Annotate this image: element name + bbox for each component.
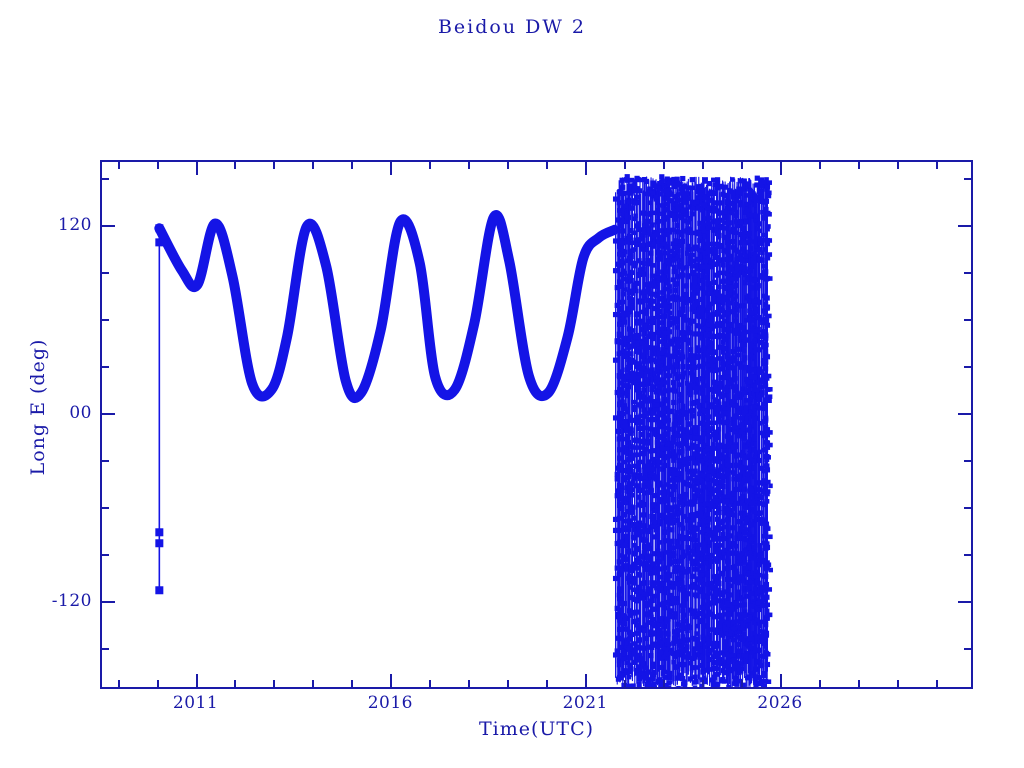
data-marker: [750, 650, 755, 655]
data-marker: [697, 412, 702, 417]
data-marker: [666, 527, 671, 532]
data-marker: [655, 533, 660, 538]
data-marker: [752, 256, 757, 261]
data-marker: [767, 194, 772, 199]
data-marker: [713, 182, 718, 187]
data-marker: [657, 303, 662, 308]
data-marker: [685, 283, 690, 288]
data-marker: [677, 337, 682, 342]
data-marker: [760, 321, 765, 326]
data-marker: [766, 652, 771, 657]
data-marker: [761, 684, 766, 687]
data-marker: [668, 311, 673, 316]
data-marker: [631, 453, 636, 458]
data-marker: [738, 465, 743, 470]
data-marker: [763, 311, 768, 316]
data-marker: [642, 550, 647, 555]
data-marker: [753, 375, 758, 380]
data-marker: [625, 535, 630, 540]
data-marker: [737, 654, 742, 659]
data-marker: [645, 544, 650, 549]
x-tick-minor: [507, 680, 509, 687]
data-marker: [647, 305, 652, 310]
x-axis-title: Time(UTC): [100, 718, 973, 740]
y-tick-label: -120: [4, 591, 92, 611]
y-tick-major-right: [958, 601, 971, 603]
data-marker: [757, 369, 762, 374]
data-marker: [699, 436, 704, 441]
data-marker: [745, 277, 750, 282]
data-marker: [680, 603, 685, 608]
data-marker: [627, 525, 632, 530]
data-marker: [628, 669, 633, 674]
data-marker: [744, 318, 749, 323]
data-marker: [735, 572, 740, 577]
data-marker: [672, 265, 677, 270]
data-marker: [675, 325, 680, 330]
data-marker: [720, 367, 725, 372]
data-marker: [689, 421, 694, 426]
data-marker: [667, 553, 672, 558]
data-marker: [709, 291, 714, 296]
data-marker: [744, 642, 749, 647]
data-marker: [683, 184, 688, 189]
data-marker: [663, 267, 668, 272]
data-marker: [637, 488, 642, 493]
data-marker: [680, 191, 685, 196]
data-marker: [631, 270, 636, 275]
data-marker: [735, 391, 740, 396]
data-marker: [688, 331, 693, 336]
data-marker: [629, 359, 634, 364]
data-marker: [702, 195, 707, 200]
data-marker: [743, 365, 748, 370]
data-marker: [722, 448, 727, 453]
data-marker: [674, 477, 679, 482]
data-marker: [753, 198, 758, 203]
data-marker: [736, 576, 741, 581]
data-marker: [708, 458, 713, 463]
data-marker: [694, 299, 699, 304]
data-marker: [654, 233, 659, 238]
data-marker: [718, 356, 723, 361]
data-marker: [641, 228, 646, 233]
data-marker: [620, 381, 625, 386]
data-marker: [757, 334, 762, 339]
data-marker: [678, 263, 683, 268]
data-marker: [768, 276, 773, 281]
data-marker: [648, 331, 653, 336]
data-marker: [697, 354, 702, 359]
data-marker: [656, 314, 661, 319]
data-marker: [660, 445, 665, 450]
x-tick-minor: [546, 680, 548, 687]
data-marker: [729, 301, 734, 306]
data-marker: [717, 427, 722, 432]
data-marker: [637, 426, 642, 431]
data-marker: [744, 254, 749, 259]
data-marker: [653, 211, 658, 216]
data-marker: [758, 543, 763, 548]
data-marker: [635, 599, 640, 604]
data-marker: [719, 604, 724, 609]
data-marker: [753, 194, 758, 199]
data-marker: [682, 196, 687, 201]
data-marker: [765, 662, 770, 667]
data-marker: [697, 587, 702, 592]
data-marker: [762, 358, 767, 363]
data-marker: [668, 254, 673, 259]
data-marker: [659, 339, 664, 344]
data-marker: [648, 399, 653, 404]
data-marker: [640, 656, 645, 661]
data-marker: [692, 680, 697, 685]
data-marker: [663, 496, 668, 501]
data-marker: [620, 306, 625, 311]
data-marker: [617, 516, 622, 521]
data-marker: [677, 582, 682, 587]
data-marker: [649, 614, 654, 619]
data-marker: [729, 646, 734, 651]
data-marker: [648, 325, 653, 330]
data-marker: [627, 457, 632, 462]
data-marker: [744, 405, 749, 410]
data-marker: [687, 530, 692, 535]
data-marker: [654, 379, 659, 384]
data-marker: [732, 472, 737, 477]
data-marker: [732, 425, 737, 430]
data-marker: [748, 193, 753, 198]
data-marker: [648, 200, 653, 205]
data-marker: [637, 395, 642, 400]
data-marker: [621, 269, 626, 274]
data-marker: [703, 362, 708, 367]
y-tick-minor-right: [964, 507, 971, 509]
data-marker: [629, 178, 634, 183]
data-marker: [672, 636, 677, 641]
data-marker: [692, 487, 697, 492]
data-marker: [618, 259, 623, 264]
data-marker: [710, 627, 715, 632]
data-marker: [691, 305, 696, 310]
y-tick-minor: [102, 178, 109, 180]
data-marker: [651, 584, 656, 589]
data-marker: [624, 191, 629, 196]
data-marker: [666, 294, 671, 299]
data-marker: [721, 519, 726, 524]
data-marker: [722, 679, 727, 684]
data-marker: [760, 593, 765, 598]
data-marker: [751, 355, 756, 360]
data-marker: [740, 450, 745, 455]
data-marker: [728, 360, 733, 365]
data-marker: [634, 312, 639, 317]
data-marker: [764, 343, 769, 348]
data-marker: [744, 420, 749, 425]
data-marker: [623, 204, 628, 209]
data-marker: [741, 259, 746, 264]
data-marker: [718, 623, 723, 628]
data-marker: [645, 222, 650, 227]
data-marker: [704, 561, 709, 566]
data-marker: [753, 383, 758, 388]
data-marker: [670, 596, 675, 601]
data-marker: [733, 359, 738, 364]
data-marker: [752, 437, 757, 442]
data-marker: [705, 570, 710, 575]
data-marker: [672, 456, 677, 461]
data-marker: [678, 198, 683, 203]
data-marker: [674, 601, 679, 606]
data-marker: [627, 474, 632, 479]
data-marker: [619, 435, 624, 440]
data-marker: [618, 586, 623, 591]
x-tick-minor: [858, 680, 860, 687]
data-marker: [637, 527, 642, 532]
data-marker: [679, 545, 684, 550]
data-marker: [762, 478, 767, 483]
data-marker: [692, 636, 697, 641]
data-marker: [735, 190, 740, 195]
data-marker: [702, 519, 707, 524]
data-marker: [685, 381, 690, 386]
data-marker: [734, 198, 739, 203]
data-marker: [743, 566, 748, 571]
data-marker: [635, 200, 640, 205]
data-marker: [644, 447, 649, 452]
data-marker: [753, 574, 758, 579]
data-marker: [629, 444, 634, 449]
data-marker: [636, 460, 641, 465]
data-marker: [629, 254, 634, 259]
data-marker: [763, 567, 768, 572]
data-marker: [617, 375, 622, 380]
data-marker: [673, 611, 678, 616]
data-marker: [625, 627, 630, 632]
data-marker: [764, 296, 769, 301]
data-marker: [662, 492, 667, 497]
data-marker: [665, 631, 670, 636]
data-marker: [626, 375, 631, 380]
data-marker: [687, 435, 692, 440]
data-marker: [737, 406, 742, 411]
data-marker: [622, 657, 627, 662]
data-marker: [642, 308, 647, 313]
data-marker: [677, 415, 682, 420]
data-marker: [731, 626, 736, 631]
data-marker: [627, 675, 632, 680]
data-marker: [723, 338, 728, 343]
data-marker: [624, 437, 629, 442]
data-marker: [712, 247, 717, 252]
data-marker: [759, 639, 764, 644]
data-marker: [764, 586, 769, 591]
data-marker: [709, 265, 714, 270]
data-marker: [749, 487, 754, 492]
data-marker: [682, 498, 687, 503]
data-marker: [697, 488, 702, 493]
data-marker: [744, 654, 749, 659]
data-marker: [714, 434, 719, 439]
data-marker: [688, 661, 693, 666]
data-marker: [727, 533, 732, 538]
data-marker: [692, 276, 697, 281]
data-marker: [672, 181, 677, 186]
data-marker: [726, 468, 731, 473]
data-marker: [679, 244, 684, 249]
data-marker: [637, 227, 642, 232]
data-marker: [709, 492, 714, 497]
data-marker: [684, 569, 689, 574]
x-tick-minor: [118, 680, 120, 687]
data-marker: [757, 493, 762, 498]
data-marker: [702, 383, 707, 388]
data-marker: [620, 389, 625, 394]
data-marker: [666, 454, 671, 459]
data-marker: [711, 364, 716, 369]
data-marker: [681, 460, 686, 465]
data-marker: [651, 337, 656, 342]
data-marker: [708, 216, 713, 221]
data-marker: [762, 331, 767, 336]
chart-title: Beidou DW 2: [0, 16, 1024, 38]
data-marker: [706, 256, 711, 261]
data-marker: [619, 223, 624, 228]
data-marker: [753, 333, 758, 338]
data-marker: [766, 387, 771, 392]
data-marker: [633, 543, 638, 548]
data-marker: [658, 192, 663, 197]
data-marker: [677, 230, 682, 235]
data-marker: [752, 203, 757, 208]
data-marker: [664, 652, 669, 657]
data-marker: [620, 568, 625, 573]
chart-root: Beidou DW 2 2011201620212026-12000120 Ti…: [0, 0, 1024, 768]
data-marker: [703, 397, 708, 402]
y-tick-minor-right: [964, 319, 971, 321]
data-marker: [716, 407, 721, 412]
data-marker: [663, 437, 668, 442]
data-marker: [681, 302, 686, 307]
data-marker: [753, 239, 758, 244]
data-marker: [694, 631, 699, 636]
data-marker: [693, 280, 698, 285]
data-marker: [621, 312, 626, 317]
data-marker: [678, 534, 683, 539]
data-marker: [756, 563, 761, 568]
data-marker: [740, 481, 745, 486]
data-marker: [686, 244, 691, 249]
data-marker: [730, 512, 735, 517]
data-marker: [735, 681, 740, 686]
data-marker: [617, 493, 622, 498]
data-marker: [754, 617, 759, 622]
data-marker: [637, 572, 642, 577]
data-marker: [688, 321, 693, 326]
data-marker: [655, 440, 660, 445]
data-marker: [767, 679, 772, 684]
data-marker: [673, 565, 678, 570]
data-marker: [621, 478, 626, 483]
x-tick-minor-top: [897, 162, 899, 169]
data-marker: [659, 617, 664, 622]
data-marker: [693, 685, 698, 687]
data-marker: [632, 343, 637, 348]
data-marker: [697, 231, 702, 236]
data-marker: [642, 628, 647, 633]
data-marker: [738, 220, 743, 225]
data-marker: [681, 622, 686, 627]
data-marker: [748, 514, 753, 519]
data-marker: [656, 219, 661, 224]
data-marker: [640, 419, 645, 424]
data-marker: [690, 561, 695, 566]
y-tick-minor-right: [964, 366, 971, 368]
data-marker: [661, 485, 666, 490]
data-marker: [669, 493, 674, 498]
data-marker: [622, 317, 627, 322]
data-marker: [644, 538, 649, 543]
data-marker: [693, 377, 698, 382]
data-marker: [680, 176, 685, 181]
data-marker: [700, 459, 705, 464]
data-marker: [661, 513, 666, 518]
data-marker: [680, 297, 685, 302]
data-marker: [653, 594, 658, 599]
data-marker: [710, 302, 715, 307]
data-marker: [735, 308, 740, 313]
data-marker: [697, 364, 702, 369]
data-marker: [693, 675, 698, 680]
data-marker: [702, 466, 707, 471]
data-marker: [686, 462, 691, 467]
data-marker: [685, 226, 690, 231]
data-marker: [727, 381, 732, 386]
x-tick-minor-top: [468, 162, 470, 169]
data-marker: [643, 528, 648, 533]
data-marker: [691, 514, 696, 519]
data-marker: [741, 436, 746, 441]
data-marker: [704, 370, 709, 375]
data-marker: [703, 582, 708, 587]
data-marker: [745, 379, 750, 384]
data-marker: [641, 675, 646, 680]
x-tick-minor: [936, 680, 938, 687]
data-marker: [622, 375, 627, 380]
data-marker: [751, 500, 756, 505]
data-marker: [752, 646, 757, 651]
data-marker: [674, 298, 679, 303]
data-marker: [675, 653, 680, 658]
data-marker: [670, 198, 675, 203]
data-marker: [730, 190, 735, 195]
data-marker: [750, 536, 755, 541]
data-marker: [695, 475, 700, 480]
data-marker: [660, 453, 665, 458]
data-marker: [640, 261, 645, 266]
data-marker: [651, 457, 656, 462]
data-marker: [730, 638, 735, 643]
data-marker: [644, 247, 649, 252]
data-marker: [734, 313, 739, 318]
data-marker: [638, 627, 643, 632]
data-marker: [666, 207, 671, 212]
data-marker: [633, 445, 638, 450]
data-marker: [648, 609, 653, 614]
data-marker: [710, 421, 715, 426]
data-marker: [705, 637, 710, 642]
data-marker: [744, 209, 749, 214]
